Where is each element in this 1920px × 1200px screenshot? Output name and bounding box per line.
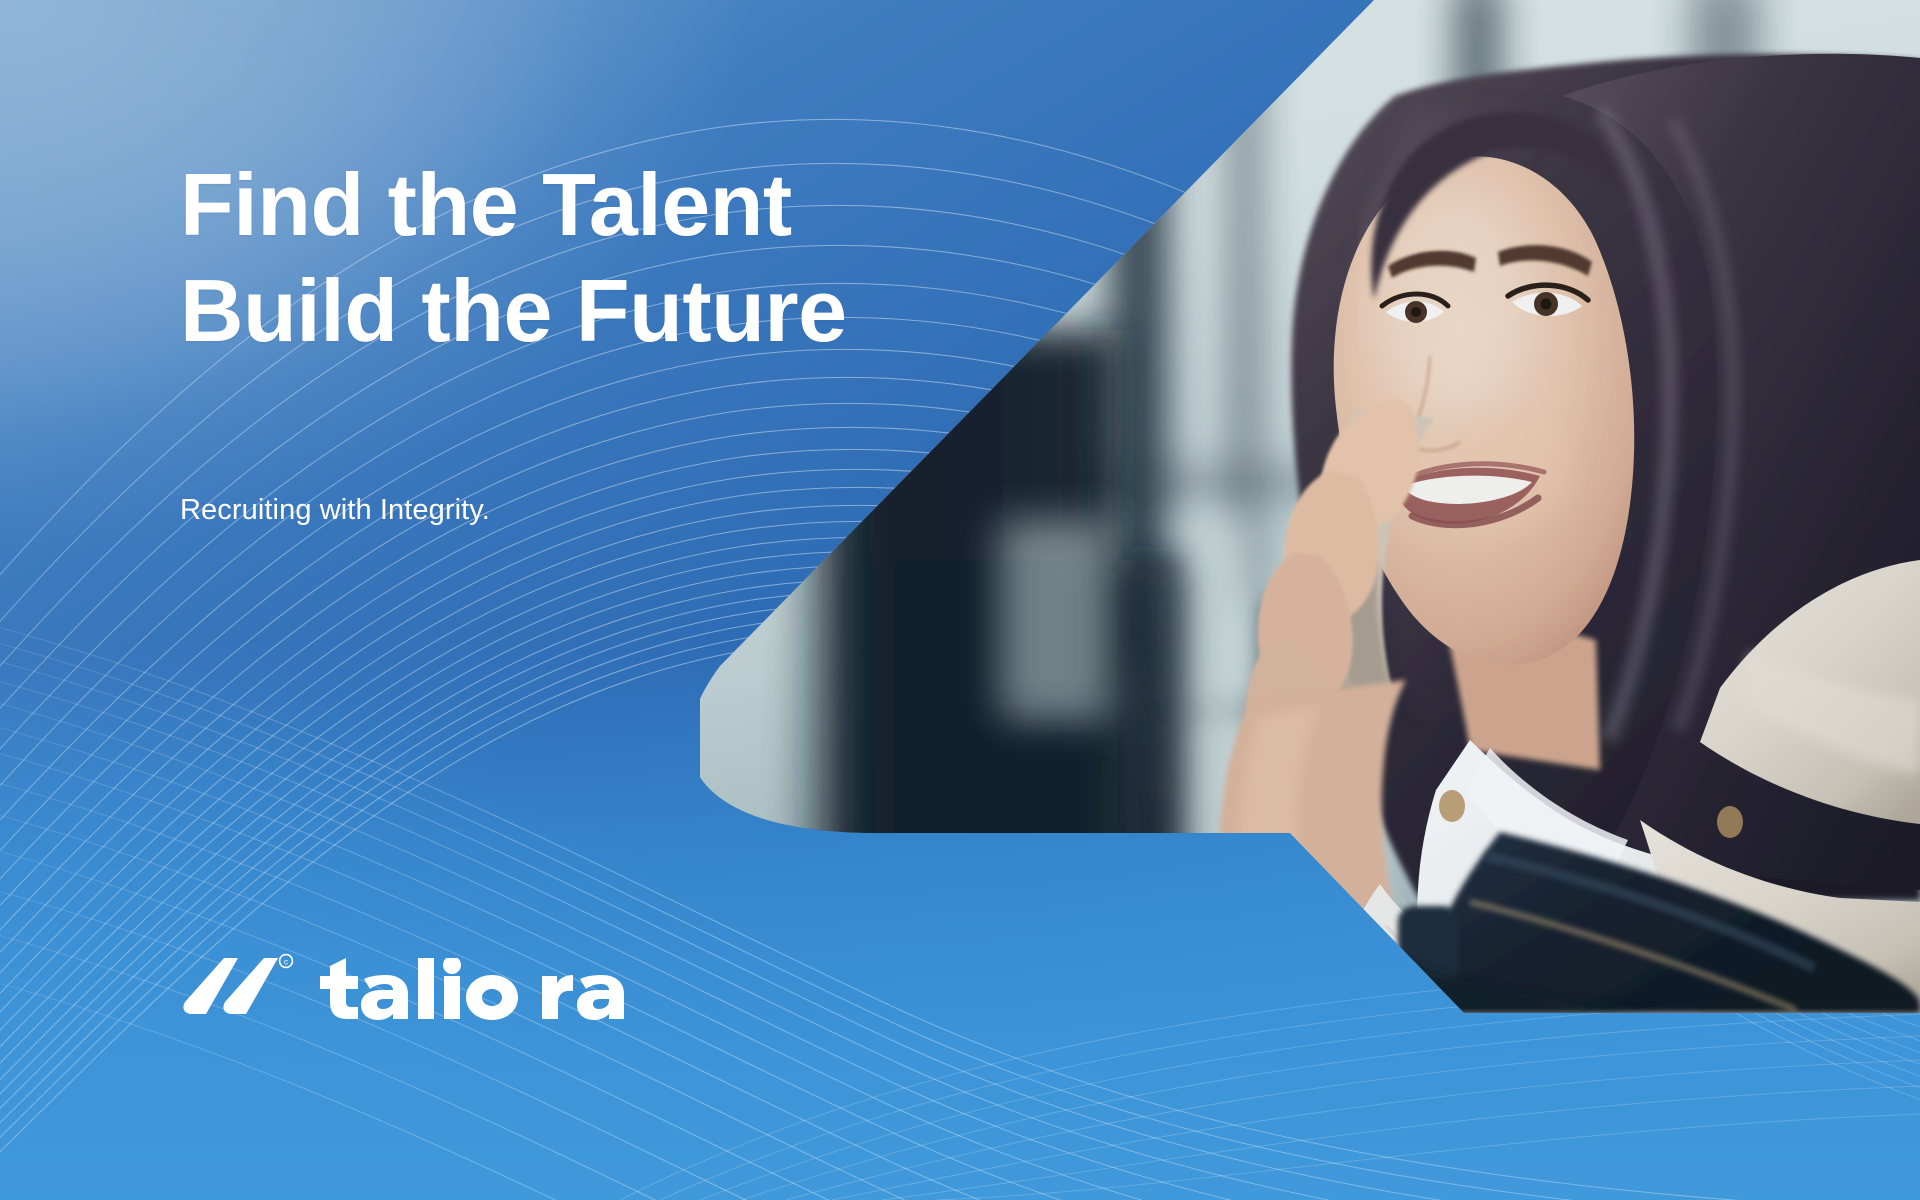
taliora-mark-icon: c: [180, 952, 298, 1020]
taliora-wordmark-tail: [540, 958, 626, 1020]
taliora-wordmark: [316, 958, 528, 1020]
tagline: Recruiting with Integrity.: [180, 492, 490, 528]
brand-logo[interactable]: c: [180, 952, 626, 1020]
trademark-symbol: c: [284, 957, 289, 967]
marketing-banner: Find the Talent Build the Future Recruit…: [0, 0, 1920, 1200]
page-title: Find the Talent Build the Future: [180, 152, 847, 364]
